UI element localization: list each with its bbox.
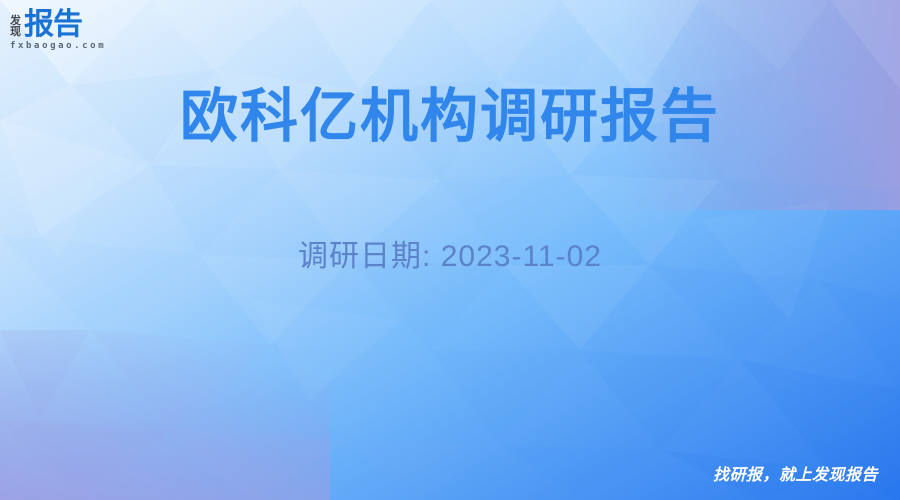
logo-main-text: 报告 bbox=[24, 10, 82, 40]
report-cover-slide: 发 现 报告 fxbaogao.com 欧科亿机构调研报告 调研日期: 2023… bbox=[0, 0, 900, 500]
page-title: 欧科亿机构调研报告 bbox=[0, 84, 900, 151]
brand-logo[interactable]: 发 现 报告 fxbaogao.com bbox=[10, 6, 140, 56]
logo-domain-text: fxbaogao.com bbox=[10, 41, 140, 51]
logo-stacked-chars: 发 现 bbox=[10, 16, 21, 40]
survey-date-subtitle: 调研日期: 2023-11-02 bbox=[0, 231, 900, 275]
logo-wordmark: 发 现 报告 bbox=[10, 6, 140, 40]
footer-tagline: 找研报，就上发现报告 bbox=[713, 461, 878, 485]
logo-char-xian: 现 bbox=[10, 27, 21, 38]
